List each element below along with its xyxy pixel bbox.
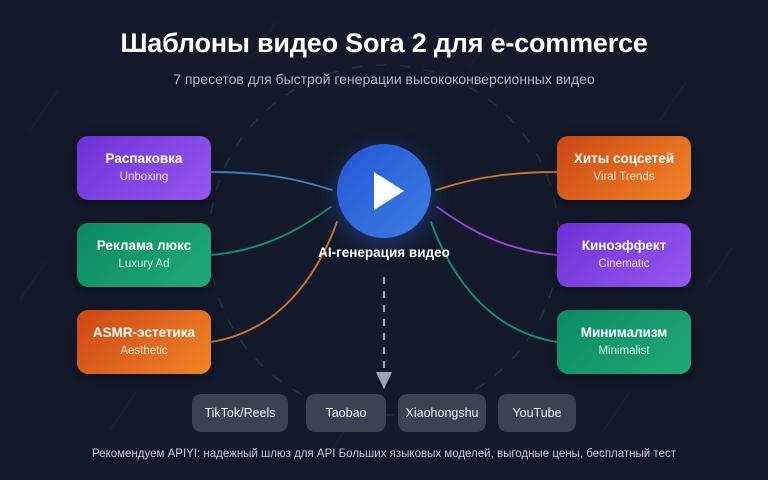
dashed-ring bbox=[209, 65, 559, 415]
connector-right-2 bbox=[431, 222, 557, 342]
ai-generation-hub[interactable] bbox=[337, 144, 431, 238]
page-subtitle: 7 пресетов для быстрой генерации высокок… bbox=[0, 71, 768, 87]
platform-pill-label: TikTok/Reels bbox=[204, 406, 275, 420]
connector-right-0 bbox=[436, 172, 557, 190]
platform-pill-label: YouTube bbox=[512, 406, 561, 420]
connector-left-0 bbox=[211, 172, 332, 190]
arrow-head-icon bbox=[376, 372, 392, 389]
preset-card-aesthetic[interactable]: ASMR-эстетика Aesthetic bbox=[77, 310, 211, 374]
footer-note: Рекомендуем APIYI: надежный шлюз для API… bbox=[0, 448, 768, 460]
preset-card-viral-trends[interactable]: Хиты соцсетей Viral Trends bbox=[557, 136, 691, 200]
hub-label: AI-генерация видео bbox=[0, 245, 768, 260]
preset-card-title: Хиты соцсетей bbox=[574, 152, 674, 167]
preset-card-title: Минимализм bbox=[581, 326, 668, 341]
infographic-canvas: Шаблоны видео Sora 2 для e-commerce 7 пр… bbox=[0, 0, 768, 480]
page-title: Шаблоны видео Sora 2 для e-commerce bbox=[0, 28, 768, 59]
preset-card-unboxing[interactable]: Распаковка Unboxing bbox=[77, 136, 211, 200]
preset-card-subtitle: Unboxing bbox=[120, 171, 169, 184]
preset-card-subtitle: Viral Trends bbox=[593, 171, 654, 184]
preset-card-subtitle: Minimalist bbox=[598, 345, 649, 358]
preset-card-title: Распаковка bbox=[106, 152, 183, 167]
platform-pill-taobao[interactable]: Taobao bbox=[306, 394, 386, 432]
preset-card-title: ASMR-эстетика bbox=[93, 326, 195, 341]
platform-pill-tiktok-reels[interactable]: TikTok/Reels bbox=[192, 394, 288, 432]
platform-pill-xiaohongshu[interactable]: Xiaohongshu bbox=[398, 394, 486, 432]
play-icon bbox=[374, 172, 404, 210]
header: Шаблоны видео Sora 2 для e-commerce 7 пр… bbox=[0, 0, 768, 87]
preset-card-subtitle: Aesthetic bbox=[120, 345, 167, 358]
preset-card-minimalist[interactable]: Минимализм Minimalist bbox=[557, 310, 691, 374]
connector-left-2 bbox=[211, 222, 337, 342]
platform-pill-label: Taobao bbox=[325, 406, 366, 420]
platform-pill-label: Xiaohongshu bbox=[406, 406, 479, 420]
platform-pill-youtube[interactable]: YouTube bbox=[498, 394, 576, 432]
